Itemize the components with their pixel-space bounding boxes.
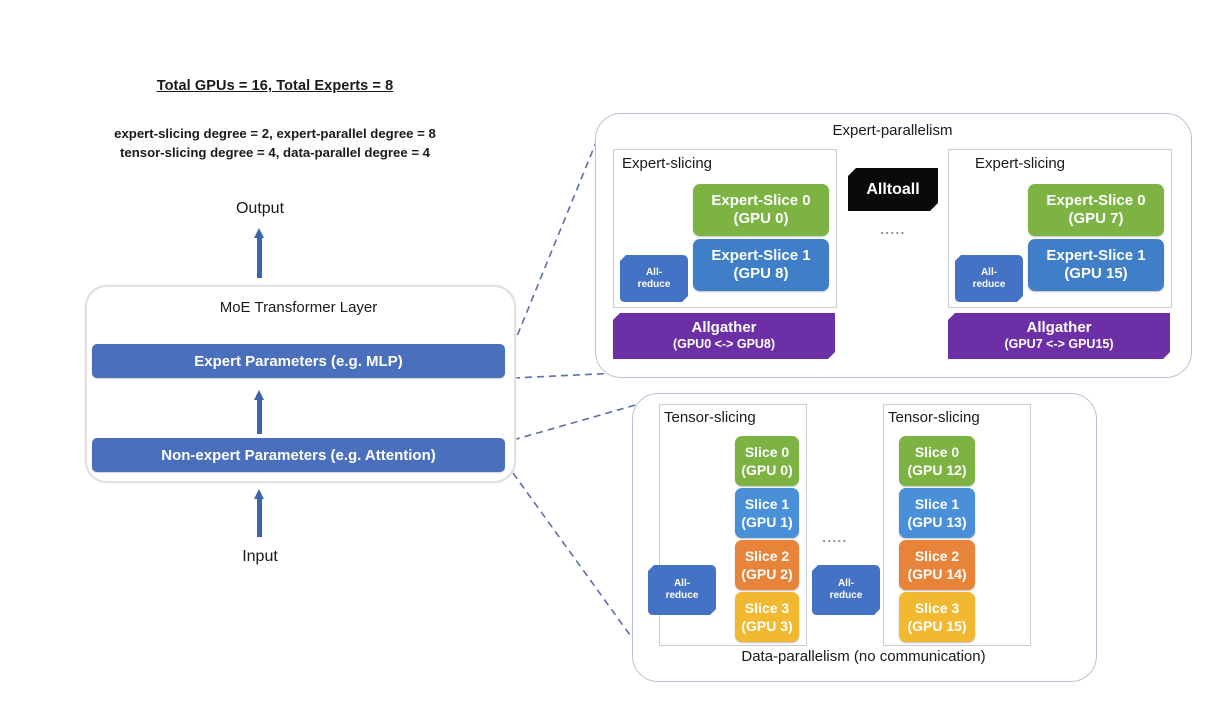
input-label: Input <box>185 548 335 566</box>
allreduce-line2: reduce <box>638 279 671 291</box>
slice-name: Slice 1 <box>915 495 959 513</box>
slice-name: Slice 2 <box>915 547 959 565</box>
data-parallelism-ellipsis: ..... <box>815 530 855 545</box>
allreduce-line2: reduce <box>666 590 699 602</box>
allgather-box-gpu7-gpu15[interactable]: Allgather (GPU7 <-> GPU15) <box>948 313 1170 359</box>
expert-parallelism-ellipsis: ..... <box>848 222 938 237</box>
output-label: Output <box>185 200 335 218</box>
slice-name: Slice 1 <box>745 495 789 513</box>
allgather-box-gpu0-gpu8[interactable]: Allgather (GPU0 <-> GPU8) <box>613 313 835 359</box>
allreduce-box-dp-1[interactable]: All- reduce <box>812 565 880 615</box>
slice-name: Expert-Slice 1 <box>711 247 810 265</box>
allgather-title: Allgather <box>1026 319 1091 336</box>
slice-gpu: (GPU 14) <box>907 565 966 583</box>
slice-name: Expert-Slice 0 <box>1046 192 1145 210</box>
tensor-slice-3-gpu15[interactable]: Slice 3 (GPU 15) <box>899 592 975 642</box>
tensor-slicing-group-0-title: Tensor-slicing <box>664 409 756 426</box>
allreduce-line1: All- <box>646 267 662 279</box>
expert-slice-0-gpu0[interactable]: Expert-Slice 0 (GPU 0) <box>693 184 829 236</box>
allreduce-box-ep-0[interactable]: All- reduce <box>620 255 688 302</box>
expert-slice-0-gpu7[interactable]: Expert-Slice 0 (GPU 7) <box>1028 184 1164 236</box>
header-subtitle: expert-slicing degree = 2, expert-parall… <box>95 124 455 162</box>
slice-gpu: (GPU 13) <box>907 513 966 531</box>
allreduce-line1: All- <box>674 578 690 590</box>
tensor-slice-0-gpu0[interactable]: Slice 0 (GPU 0) <box>735 436 799 486</box>
alltoall-box[interactable]: Alltoall <box>848 168 938 211</box>
slice-gpu: (GPU 0) <box>741 461 792 479</box>
expert-slicing-group-1-title: Expert-slicing <box>975 155 1065 172</box>
tensor-slice-2-gpu14[interactable]: Slice 2 (GPU 14) <box>899 540 975 590</box>
slice-name: Expert-Slice 1 <box>1046 247 1145 265</box>
allgather-sub: (GPU0 <-> GPU8) <box>673 336 775 353</box>
tensor-slice-0-gpu12[interactable]: Slice 0 (GPU 12) <box>899 436 975 486</box>
allreduce-line2: reduce <box>830 590 863 602</box>
tensor-slice-2-gpu2[interactable]: Slice 2 (GPU 2) <box>735 540 799 590</box>
page-title: Total GPUs = 16, Total Experts = 8 <box>110 78 440 94</box>
internal-arrow-icon <box>254 390 265 434</box>
output-arrow-icon <box>254 228 265 278</box>
header-subtitle-line2: tensor-slicing degree = 4, data-parallel… <box>95 143 455 162</box>
allreduce-box-ep-1[interactable]: All- reduce <box>955 255 1023 302</box>
connector-expert-top <box>513 140 597 346</box>
tensor-slicing-group-1-title: Tensor-slicing <box>888 409 980 426</box>
slice-gpu: (GPU 8) <box>733 265 788 283</box>
data-parallelism-caption: Data-parallelism (no communication) <box>632 648 1095 665</box>
expert-parallelism-title: Expert-parallelism <box>595 122 1190 139</box>
slice-gpu: (GPU 15) <box>1064 265 1127 283</box>
slice-name: Slice 2 <box>745 547 789 565</box>
tensor-slice-1-gpu13[interactable]: Slice 1 (GPU 13) <box>899 488 975 538</box>
allreduce-line2: reduce <box>973 279 1006 291</box>
slice-name: Slice 0 <box>745 443 789 461</box>
slice-name: Expert-Slice 0 <box>711 192 810 210</box>
expert-slicing-group-0-title: Expert-slicing <box>622 155 712 172</box>
slice-gpu: (GPU 2) <box>741 565 792 583</box>
allreduce-line1: All- <box>838 578 854 590</box>
slice-gpu: (GPU 3) <box>741 617 792 635</box>
slice-name: Slice 0 <box>915 443 959 461</box>
slice-gpu: (GPU 7) <box>1068 210 1123 228</box>
tensor-slice-1-gpu1[interactable]: Slice 1 (GPU 1) <box>735 488 799 538</box>
expert-slice-1-gpu8[interactable]: Expert-Slice 1 (GPU 8) <box>693 239 829 291</box>
slice-gpu: (GPU 0) <box>733 210 788 228</box>
input-arrow-icon <box>254 489 265 537</box>
slice-gpu: (GPU 15) <box>907 617 966 635</box>
allreduce-box-dp-0[interactable]: All- reduce <box>648 565 716 615</box>
allreduce-line1: All- <box>981 267 997 279</box>
moe-layer-title: MoE Transformer Layer <box>85 299 512 316</box>
slice-gpu: (GPU 1) <box>741 513 792 531</box>
tensor-slice-3-gpu3[interactable]: Slice 3 (GPU 3) <box>735 592 799 642</box>
expert-slice-1-gpu15[interactable]: Expert-Slice 1 (GPU 15) <box>1028 239 1164 291</box>
allgather-sub: (GPU7 <-> GPU15) <box>1004 336 1113 353</box>
slice-name: Slice 3 <box>745 599 789 617</box>
connector-tensor-bottom <box>513 473 648 660</box>
allgather-title: Allgather <box>691 319 756 336</box>
header-subtitle-line1: expert-slicing degree = 2, expert-parall… <box>95 124 455 143</box>
nonexpert-parameters-bar[interactable]: Non-expert Parameters (e.g. Attention) <box>92 438 505 472</box>
expert-parameters-bar[interactable]: Expert Parameters (e.g. MLP) <box>92 344 505 378</box>
slice-name: Slice 3 <box>915 599 959 617</box>
slice-gpu: (GPU 12) <box>907 461 966 479</box>
